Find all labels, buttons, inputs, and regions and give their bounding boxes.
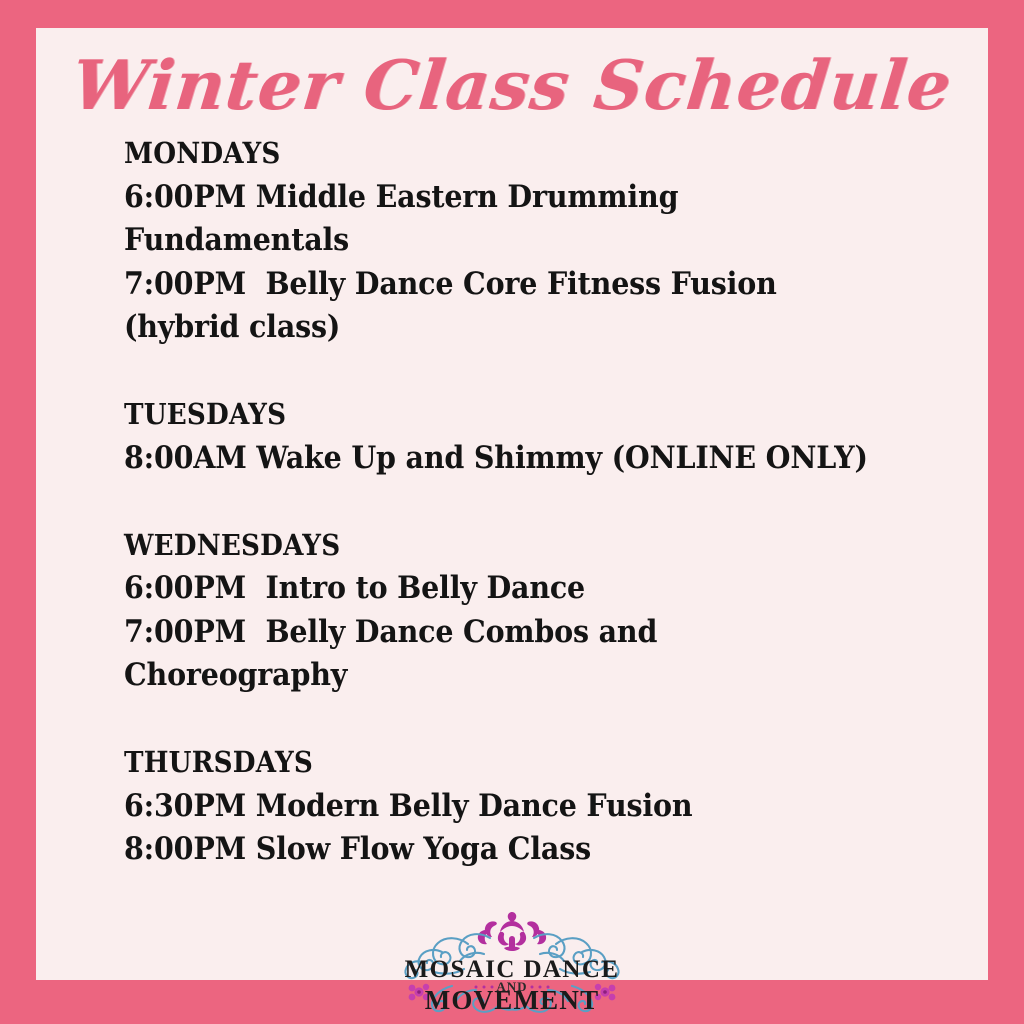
poster-inner-panel: Winter Class Schedule MONDAYS6:00PM Midd… [36,28,988,980]
class-entry-line: 6:30PM Modern Belly Dance Fusion [124,785,888,829]
class-entry-line: (hybrid class) [124,306,888,350]
class-entry-line: 7:00PM Belly Dance Combos and [124,611,888,655]
day-heading: TUESDAYS [124,393,888,437]
day-heading: WEDNESDAYS [124,524,888,568]
logo-line-movement: MOVEMENT [425,985,600,1015]
schedule-spacer [124,698,954,742]
schedule-spacer [124,350,954,394]
class-schedule-list: MONDAYS6:00PM Middle Eastern DrummingFun… [124,132,954,872]
class-entry-line: 8:00AM Wake Up and Shimmy (ONLINE ONLY) [124,437,888,481]
page-title: Winter Class Schedule [32,46,992,126]
class-entry-line: 6:00PM Middle Eastern Drumming [124,176,888,220]
class-entry-line: Fundamentals [124,219,888,263]
brand-logo: MOSAIC DANCE AND MOVEMENT [372,908,652,1018]
class-entry-line: 7:00PM Belly Dance Core Fitness Fusion [124,263,888,307]
schedule-spacer [124,480,954,524]
day-heading: THURSDAYS [124,741,888,785]
poster-canvas: Winter Class Schedule MONDAYS6:00PM Midd… [0,0,1024,1024]
logo-floral-crown-icon [478,912,546,951]
class-entry-line: 6:00PM Intro to Belly Dance [124,567,888,611]
class-entry-line: Choreography [124,654,888,698]
class-entry-line: 8:00PM Slow Flow Yoga Class [124,828,888,872]
day-heading: MONDAYS [124,132,888,176]
